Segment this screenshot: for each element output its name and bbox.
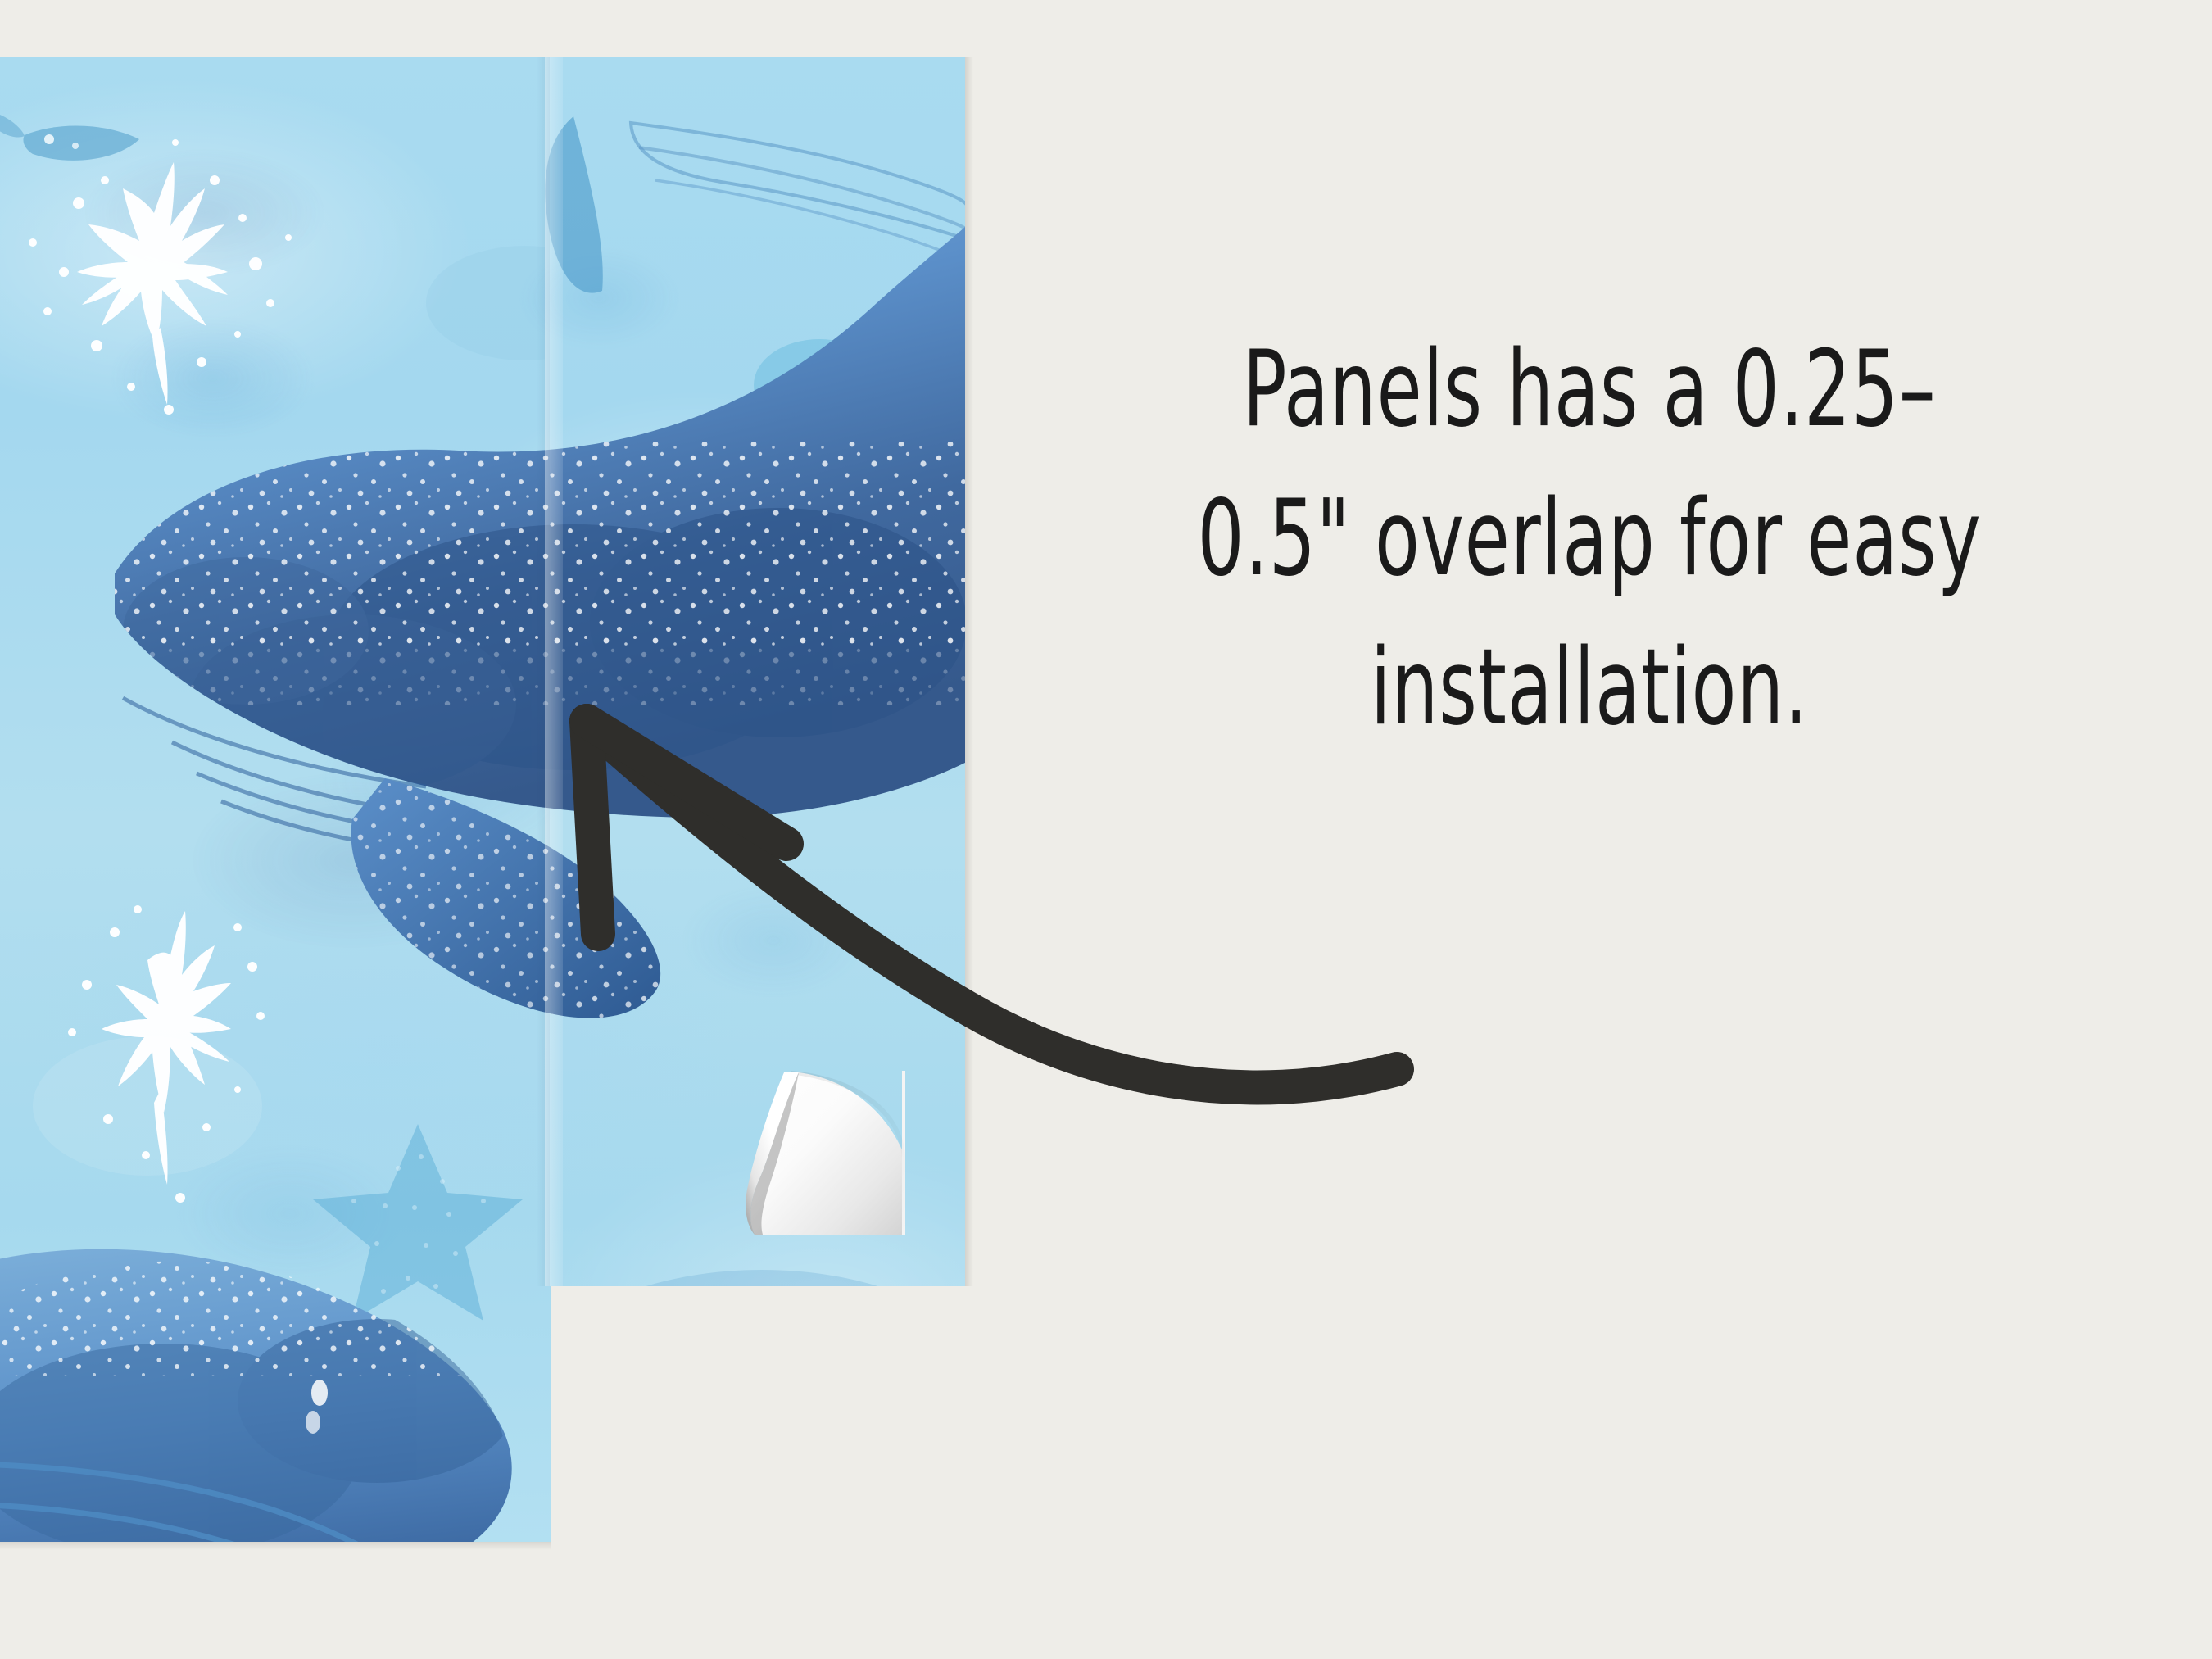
mural-art-front bbox=[545, 57, 965, 1286]
front-panel-edge-shadow bbox=[965, 57, 973, 1286]
caption-text: Panels has a 0.25– 0.5" overlap for easy… bbox=[1181, 315, 1998, 762]
mural-art-back bbox=[0, 57, 551, 1542]
back-panel-bottom-shadow bbox=[0, 1542, 551, 1550]
small-fish bbox=[0, 115, 139, 161]
main-whale-front bbox=[545, 225, 965, 1018]
caption-line-3: installation. bbox=[1181, 614, 1998, 763]
caption-line-2: 0.5" overlap for easy bbox=[1181, 465, 1998, 614]
blue-starfish bbox=[313, 1124, 523, 1321]
mid-whale-shape-front bbox=[612, 1270, 965, 1286]
caption-line-1: Panels has a 0.25– bbox=[1181, 315, 1998, 465]
screenshot-canvas: Panels has a 0.25– 0.5" overlap for easy… bbox=[0, 0, 2212, 1659]
top-whale-fin-front bbox=[545, 116, 965, 293]
wallpaper-panel-front[interactable] bbox=[545, 57, 965, 1286]
wallpaper-panel-back[interactable] bbox=[0, 57, 551, 1542]
